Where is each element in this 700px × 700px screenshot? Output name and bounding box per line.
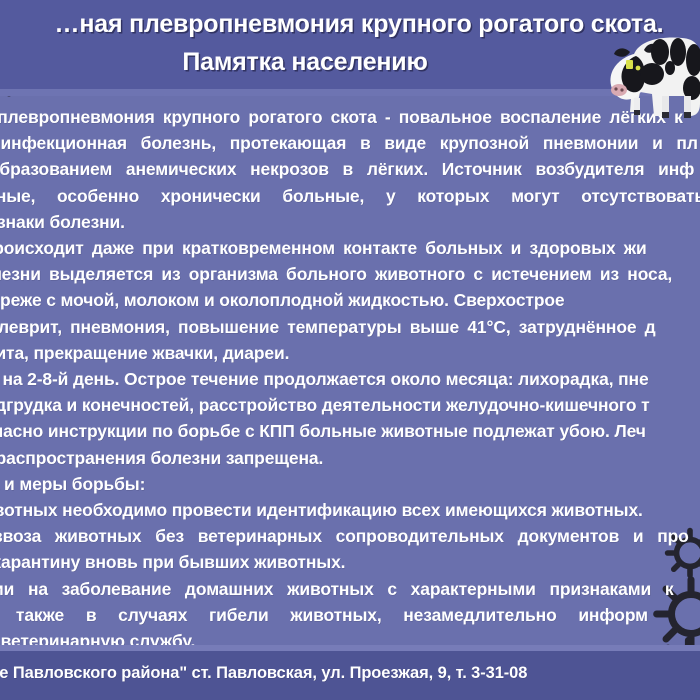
body-line: …ские признаки болезни. [0,209,700,235]
poster-title-line-1: …ная плевропневмония крупного рогатого с… [18,5,700,43]
body-line: …жение происходит даже при кратковременн… [0,235,700,261]
body-line: …ние. Согласно инструкции по борьбе с КП… [0,418,700,444]
body-line: …ятий по карантину вновь при бывших живо… [0,549,700,575]
body-line: … животные, особенно хронически больные,… [0,183,700,209]
body-line: …аступает на 2-8-й день. Острое течение … [0,366,700,392]
body-line: … скота, инфекционная болезнь, протекающ… [0,130,700,156]
body-line: …ие аппетита, прекращение жвачки, диареи… [0,340,700,366]
body-line: …нию, а также в случаях гибели животных,… [0,602,700,628]
body-line: …и кашле, реже с мочой, молоком и околоп… [0,287,700,313]
body-line: …ющим образованием анемических некрозов … [0,156,700,182]
body-line: …ивный плеврит, пневмония, повышение тем… [0,314,700,340]
body-line: …илактика и меры борьбы: [0,471,700,497]
poster-root: …ная плевропневмония крупного рогатого с… [0,0,700,700]
body-line: …гиозная плевропневмония крупного рогато… [0,104,700,130]
body-line: …тель болезни выделяется из организма бо… [0,261,700,287]
poster-subtitle: Памятка населению [0,43,700,81]
footer-contact-line: …правление Павловского района" ст. Павло… [0,664,700,683]
poster-header: …ная плевропневмония крупного рогатого с… [0,0,700,96]
body-line: …отеки подгрудка и конечностей, расстрой… [0,392,700,418]
body-line: …ьцам животных необходимо провести идент… [0,497,700,523]
body-line: …одозрении на заболевание домашних живот… [0,576,700,602]
poster-body: …гиозная плевропневмония крупного рогато… [0,104,700,654]
body-line: …асности распространения болезни запреще… [0,445,700,471]
poster-footer: …правление Павловского района" ст. Павло… [0,651,700,700]
body-line: …ускать ввоза животных без ветеринарных … [0,523,700,549]
poster-title-block: …ная плевропневмония крупного рогатого с… [0,0,700,81]
